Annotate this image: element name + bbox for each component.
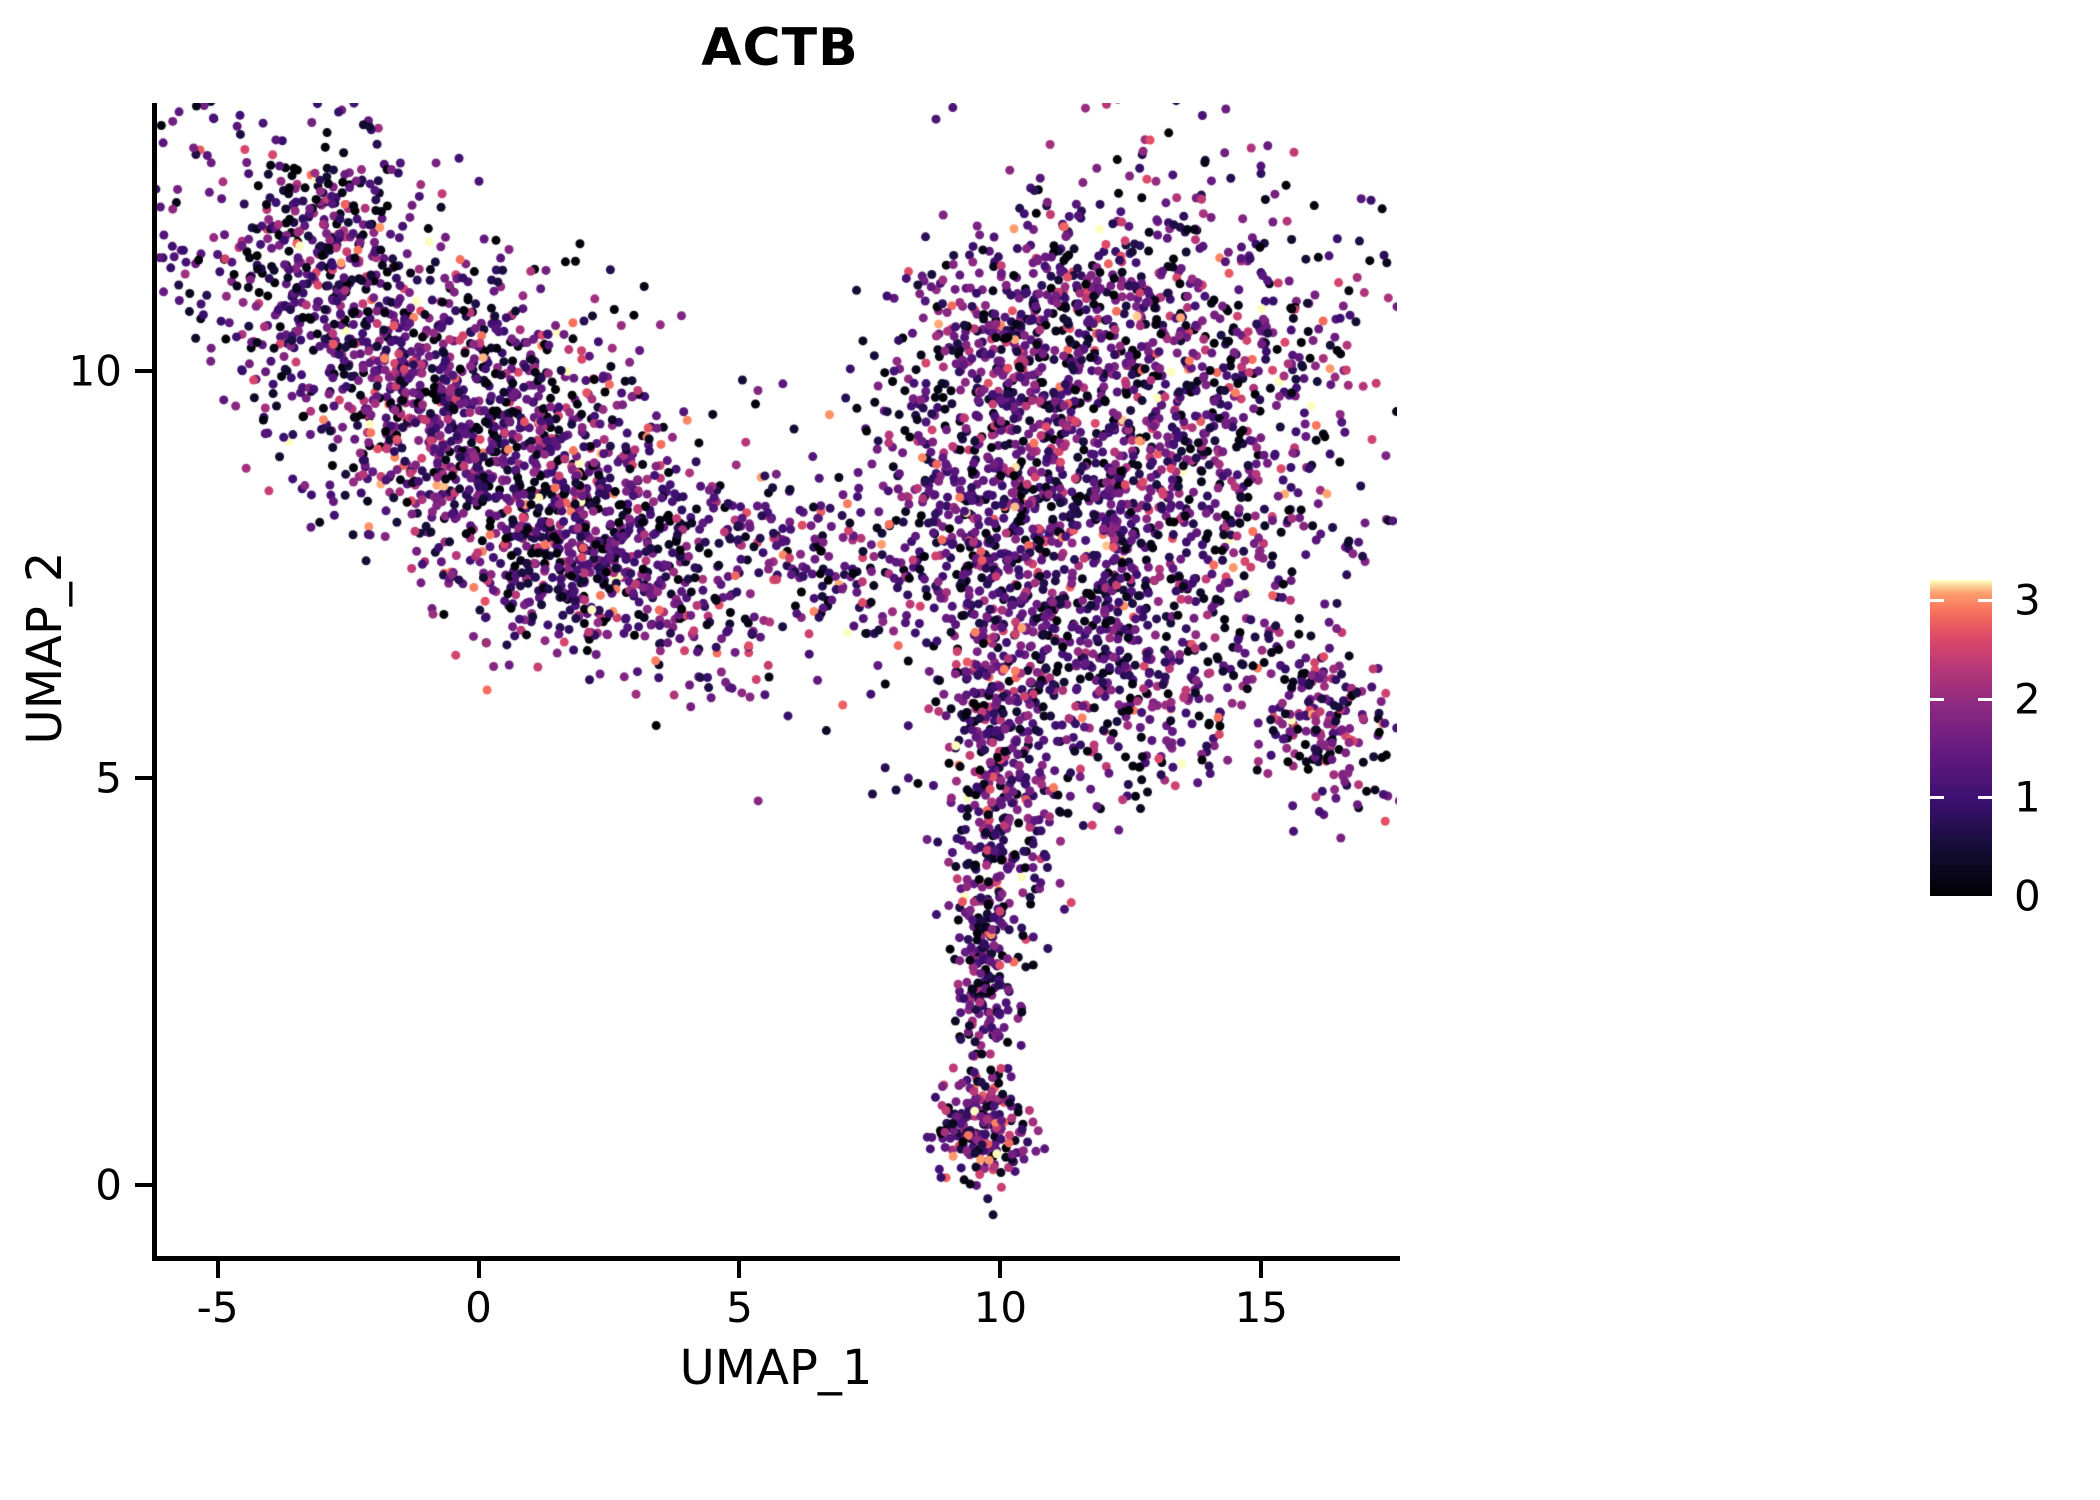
x-tick-label: 15 bbox=[1235, 1283, 1288, 1332]
x-tick-label: 10 bbox=[974, 1283, 1027, 1332]
x-tick bbox=[998, 1261, 1002, 1278]
x-tick-label: 0 bbox=[465, 1283, 492, 1332]
x-tick bbox=[216, 1261, 220, 1278]
x-axis-spine bbox=[152, 1256, 1400, 1261]
x-tick bbox=[477, 1261, 481, 1278]
y-tick bbox=[135, 369, 152, 373]
colorbar-tick-mark bbox=[1978, 599, 1992, 602]
colorbar-tick-mark bbox=[1978, 698, 1992, 701]
colorbar-tick-label: 2 bbox=[2014, 674, 2041, 723]
colorbar-tick-label: 0 bbox=[2014, 872, 2041, 921]
x-tick-label: 5 bbox=[726, 1283, 753, 1332]
y-tick-label: 10 bbox=[69, 347, 122, 396]
colorbar-tick-mark bbox=[1930, 698, 1944, 701]
colorbar-tick-mark bbox=[1978, 796, 1992, 799]
y-tick bbox=[135, 1183, 152, 1187]
colorbar-legend: 0123 bbox=[1930, 580, 2100, 900]
x-tick-label: -5 bbox=[197, 1283, 239, 1332]
y-tick bbox=[135, 776, 152, 780]
y-tick-label: 0 bbox=[95, 1160, 122, 1209]
umap-feature-plot: ACTB -5051015 0510 UMAP_1 UMAP_2 0123 bbox=[0, 0, 2100, 1500]
x-tick bbox=[1259, 1261, 1263, 1278]
colorbar-gradient bbox=[1930, 580, 1992, 896]
y-tick-label: 5 bbox=[95, 754, 122, 803]
x-axis-label: UMAP_1 bbox=[152, 1340, 1400, 1396]
y-axis-label: UMAP_2 bbox=[17, 298, 73, 998]
page-title: ACTB bbox=[0, 18, 1560, 78]
x-tick bbox=[737, 1261, 741, 1278]
colorbar-tick-mark bbox=[1930, 599, 1944, 602]
colorbar-tick-mark bbox=[1930, 796, 1944, 799]
colorbar-tick-label: 1 bbox=[2014, 773, 2041, 822]
colorbar-tick-label: 3 bbox=[2014, 575, 2041, 624]
y-axis-spine bbox=[152, 103, 157, 1261]
scatter-plot-canvas bbox=[155, 103, 1397, 1258]
